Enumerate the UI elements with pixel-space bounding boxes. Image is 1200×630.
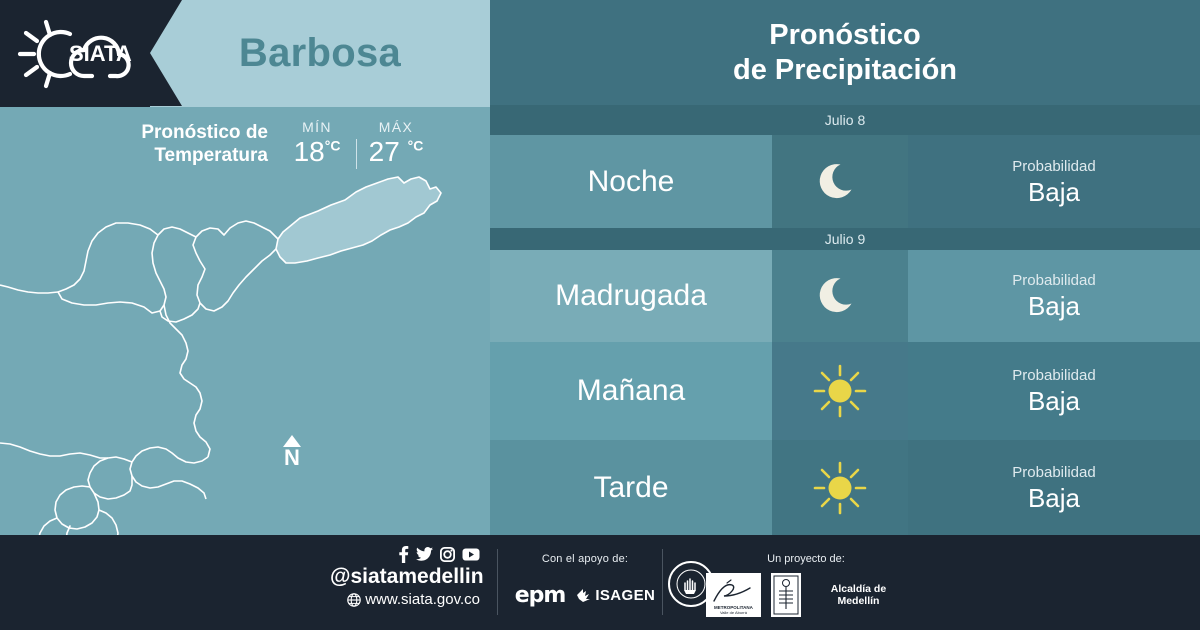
forecast-period-label: Noche bbox=[490, 135, 772, 228]
probability-value: Baja bbox=[1028, 483, 1080, 513]
north-arrow: N bbox=[275, 435, 309, 469]
probability-value: Baja bbox=[1028, 291, 1080, 321]
temperature-min-label: MÍN bbox=[278, 119, 356, 135]
siata-logo-text: SIATA bbox=[69, 41, 132, 66]
siata-logo-tab: SIATA bbox=[0, 0, 150, 107]
isagen-mark-icon bbox=[576, 588, 592, 603]
social-handle[interactable]: @siatamedellin bbox=[330, 564, 480, 590]
alcaldia-name: Alcaldía de Medellín bbox=[811, 583, 906, 607]
support-caption: Con el apoyo de: bbox=[505, 553, 665, 565]
map-panel: Pronóstico de Temperatura MÍN 18°C MÁX 2… bbox=[0, 107, 490, 535]
forecast-row-noche[interactable]: Noche Probabilidad Baja bbox=[490, 135, 1200, 228]
temperature-values: MÍN 18°C MÁX 27 °C bbox=[278, 119, 435, 169]
map-region-boundary-central bbox=[164, 305, 210, 457]
map-region-copacabana bbox=[152, 227, 200, 322]
youtube-icon[interactable] bbox=[462, 548, 480, 561]
north-label: N bbox=[275, 447, 309, 469]
precipitation-panel: Pronóstico de Precipitación Julio 8 Noch… bbox=[490, 0, 1200, 535]
precipitation-title-line2: de Precipitación bbox=[733, 53, 957, 88]
forecast-row-manana[interactable]: Mañana Probabili bbox=[490, 342, 1200, 440]
probability-label: Probabilidad bbox=[1012, 271, 1095, 291]
map-region-barbosa bbox=[276, 177, 441, 263]
forecast-period-label: Mañana bbox=[490, 342, 772, 440]
map-region-sabaneta bbox=[55, 486, 99, 529]
instagram-icon[interactable] bbox=[440, 547, 455, 562]
forecast-period-label: Madrugada bbox=[490, 250, 772, 342]
project-block: Un proyecto de: METROPOLITANA Valle de A… bbox=[706, 553, 906, 617]
twitter-icon[interactable] bbox=[416, 547, 433, 562]
website-line[interactable]: www.siata.gov.co bbox=[330, 590, 480, 609]
precipitation-title: Pronóstico de Precipitación bbox=[490, 0, 1200, 105]
temperature-min-unit: °C bbox=[325, 138, 341, 154]
social-icons bbox=[330, 545, 480, 563]
map-region-girardota bbox=[193, 221, 278, 311]
forecast-row-madrugada[interactable]: Madrugada Probabilidad Baja bbox=[490, 250, 1200, 342]
temperature-max: MÁX 27 °C bbox=[357, 119, 435, 168]
facebook-icon[interactable] bbox=[398, 546, 409, 563]
area-script-icon bbox=[710, 579, 756, 605]
weather-forecast-card: SIATA Barbosa Pronóstico de Temperatura … bbox=[0, 0, 1200, 630]
map-region-laestrella bbox=[38, 518, 57, 535]
temperature-max-unit: °C bbox=[408, 138, 424, 154]
forecast-row-tarde[interactable]: Tarde Probabilid bbox=[490, 440, 1200, 535]
sun-cloud-icon: SIATA bbox=[12, 14, 140, 94]
temperature-max-label: MÁX bbox=[357, 119, 435, 135]
forecast-probability: Probabilidad Baja bbox=[908, 135, 1200, 228]
temperature-title-line2: Temperatura bbox=[154, 145, 268, 166]
moon-icon bbox=[772, 250, 908, 342]
temperature-title: Pronóstico de Temperatura bbox=[88, 121, 268, 167]
social-block: @siatamedellin www.siata.gov.co bbox=[330, 545, 480, 609]
map-region-envigado bbox=[130, 447, 208, 499]
municipality-map bbox=[0, 165, 490, 535]
globe-icon bbox=[347, 593, 361, 607]
area-metropolitana-logo: METROPOLITANA Valle de Aburrá bbox=[706, 573, 761, 617]
sun-icon bbox=[772, 440, 908, 535]
map-region-medellin-north-edge bbox=[0, 285, 58, 293]
project-logos: METROPOLITANA Valle de Aburrá Alcaldía d… bbox=[706, 573, 906, 617]
footer-divider-1 bbox=[497, 549, 498, 615]
footer: @siatamedellin www.siata.gov.co Con el a… bbox=[0, 535, 1200, 630]
isagen-wordmark: ISAGEN bbox=[595, 587, 655, 604]
temperature-max-value-group: 27 °C bbox=[357, 136, 435, 168]
temperature-max-value: 27 bbox=[369, 136, 400, 167]
forecast-probability: Probabilidad Baja bbox=[908, 250, 1200, 342]
moon-icon bbox=[772, 135, 908, 228]
footer-divider-2 bbox=[662, 549, 663, 615]
map-region-west-edge bbox=[0, 443, 108, 458]
forecast-probability: Probabilidad Baja bbox=[908, 342, 1200, 440]
isagen-logo: ISAGEN bbox=[576, 587, 655, 604]
temperature-min-value: 18 bbox=[294, 136, 325, 167]
sun-icon bbox=[772, 342, 908, 440]
left-header: SIATA Barbosa bbox=[0, 0, 490, 107]
map-region-itagui bbox=[88, 457, 132, 499]
probability-label: Probabilidad bbox=[1012, 157, 1095, 177]
date-header-julio-8: Julio 8 bbox=[490, 105, 1200, 135]
forecast-period-label: Tarde bbox=[490, 440, 772, 535]
date-header-julio-9: Julio 9 bbox=[490, 228, 1200, 250]
temperature-min-value-group: 18°C bbox=[278, 136, 356, 168]
temperature-min: MÍN 18°C bbox=[278, 119, 356, 168]
amva-line2: Valle de Aburrá bbox=[720, 610, 747, 615]
temperature-title-line1: Pronóstico de bbox=[141, 122, 268, 143]
epm-logo: epm bbox=[515, 583, 566, 608]
left-column: SIATA Barbosa Pronóstico de Temperatura … bbox=[0, 0, 490, 535]
project-caption: Un proyecto de: bbox=[706, 553, 906, 565]
precipitation-title-line1: Pronóstico bbox=[769, 18, 920, 53]
probability-label: Probabilidad bbox=[1012, 463, 1095, 483]
support-logos: epm ISAGEN bbox=[505, 583, 665, 608]
map-region-bello bbox=[58, 223, 160, 313]
probability-value: Baja bbox=[1028, 386, 1080, 416]
probability-value: Baja bbox=[1028, 177, 1080, 207]
city-name: Barbosa bbox=[150, 0, 490, 107]
website-url: www.siata.gov.co bbox=[365, 590, 480, 609]
probability-label: Probabilidad bbox=[1012, 366, 1095, 386]
support-block: Con el apoyo de: epm ISAGEN bbox=[505, 553, 665, 608]
alcaldia-shield-logo bbox=[771, 573, 801, 617]
forecast-probability: Probabilidad Baja bbox=[908, 440, 1200, 535]
